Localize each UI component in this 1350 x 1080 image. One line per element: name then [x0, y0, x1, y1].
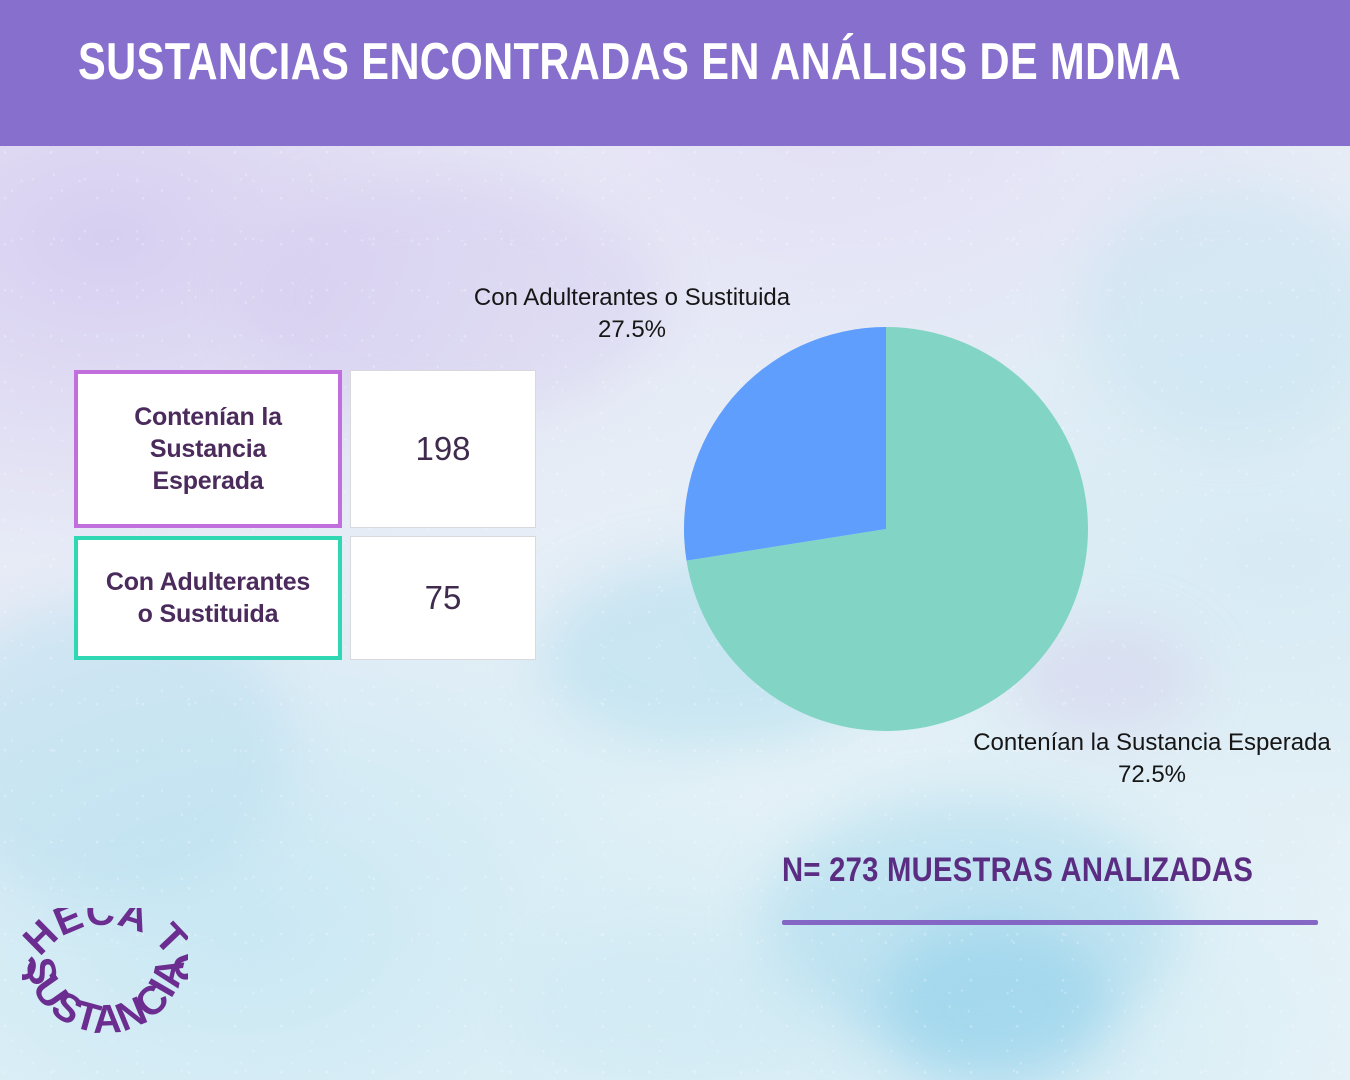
- table-row: Contenían la Sustancia Esperada 198: [74, 370, 536, 528]
- pie-label-percent: 27.5%: [598, 316, 666, 343]
- pie-label-expected: Contenían la Sustancia Esperada 72.5%: [962, 727, 1342, 790]
- pie-label-percent: 72.5%: [1118, 761, 1186, 788]
- legend-label-text: Con Adulterantes o Sustituida: [106, 566, 310, 630]
- legend-value-adulterated: 75: [350, 536, 536, 660]
- logo-line-2: SUSTANCIA: [22, 953, 188, 1042]
- table-row: Con Adulterantes o Sustituida 75: [74, 536, 536, 660]
- logo-svg: CHECA TU SUSTANCIA: [22, 908, 188, 1044]
- legend-label-line: Esperada: [153, 467, 264, 495]
- pie-slice-adulterated: [684, 327, 886, 561]
- legend-label-text: Contenían la Sustancia Esperada: [134, 401, 282, 497]
- pie-chart-svg: [684, 327, 1088, 731]
- pie-label-name: Con Adulterantes o Sustituida: [474, 284, 790, 311]
- legend-label-adulterated: Con Adulterantes o Sustituida: [74, 536, 342, 660]
- page-title: SUSTANCIAS ENCONTRADAS EN ANÁLISIS DE MD…: [78, 34, 1181, 91]
- legend-label-line: Contenían la: [134, 403, 282, 431]
- pie-chart: [684, 327, 1088, 731]
- header-band: SUSTANCIAS ENCONTRADAS EN ANÁLISIS DE MD…: [0, 0, 1350, 146]
- pie-label-name: Contenían la Sustancia Esperada: [973, 729, 1331, 756]
- legend-table: Contenían la Sustancia Esperada 198 Con …: [74, 370, 536, 660]
- legend-label-expected: Contenían la Sustancia Esperada: [74, 370, 342, 528]
- logo-checa-tu-sustancia: CHECA TU SUSTANCIA: [22, 908, 188, 1044]
- pie-label-adulterated: Con Adulterantes o Sustituida 27.5%: [462, 282, 802, 345]
- legend-value-text: 198: [415, 430, 470, 468]
- legend-label-line: o Sustituida: [138, 600, 279, 628]
- legend-label-line: Sustancia: [150, 435, 266, 463]
- footnote-divider: [782, 920, 1318, 925]
- infographic-page: SUSTANCIAS ENCONTRADAS EN ANÁLISIS DE MD…: [0, 0, 1350, 1080]
- sample-size-note: N= 273 MUESTRAS ANALIZADAS: [782, 851, 1253, 890]
- logo-text-group: CHECA TU SUSTANCIA: [22, 908, 188, 1042]
- legend-label-line: Con Adulterantes: [106, 568, 310, 596]
- legend-value-text: 75: [425, 579, 462, 617]
- legend-value-expected: 198: [350, 370, 536, 528]
